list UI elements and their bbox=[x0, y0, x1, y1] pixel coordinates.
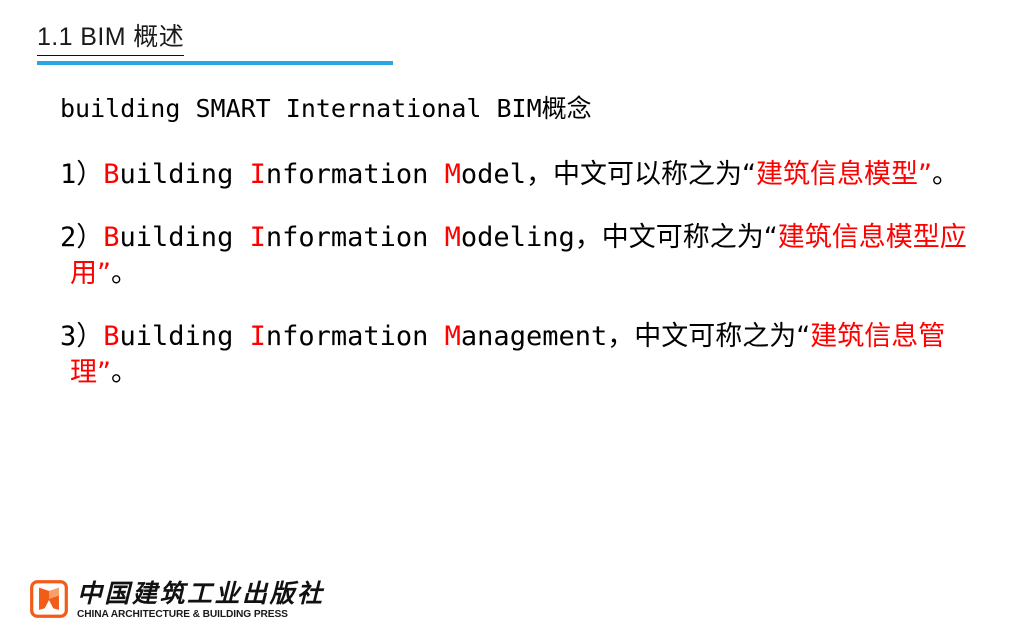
separator-comma: ， bbox=[607, 321, 634, 352]
close-quote: ” bbox=[97, 357, 111, 388]
close-quote: ” bbox=[918, 159, 932, 190]
term-fragment: B bbox=[103, 321, 119, 352]
full-stop: 。 bbox=[111, 357, 138, 388]
close-quote: ” bbox=[97, 258, 111, 289]
list-item: 1）Building Information Model，中文可以称之为“建筑信… bbox=[60, 157, 990, 193]
open-quote: “ bbox=[742, 159, 756, 190]
publisher-name-cn: 中国建筑工业出版社 bbox=[77, 581, 325, 607]
term-fragment: nformation bbox=[266, 159, 445, 190]
chinese-term: 建筑信息模型 bbox=[756, 159, 918, 190]
term-fragment: I bbox=[250, 321, 266, 352]
open-quote: “ bbox=[764, 222, 778, 253]
open-book-logo-icon bbox=[30, 580, 68, 618]
list-item: 2）Building Information Modeling，中文可称之为“建… bbox=[60, 220, 990, 292]
term-fragment: I bbox=[250, 159, 266, 190]
term-fragment: M bbox=[445, 222, 461, 253]
title-block: 1.1 BIM 概述 bbox=[37, 24, 457, 65]
term-fragment: I bbox=[250, 222, 266, 253]
slide-canvas: { "slide": { "title": "1.1 BIM 概述", "acc… bbox=[0, 0, 1024, 640]
publisher-name-en: CHINA ARCHITECTURE & BUILDING PRESS bbox=[77, 608, 317, 621]
open-quote: “ bbox=[796, 321, 810, 352]
separator-comma: ， bbox=[526, 159, 553, 190]
lead-line: building SMART International BIM概念 bbox=[60, 96, 990, 121]
separator-comma: ， bbox=[575, 222, 602, 253]
term-fragment: B bbox=[103, 222, 119, 253]
term-fragment: uilding bbox=[120, 321, 250, 352]
term-fragment: odel bbox=[461, 159, 526, 190]
term-fragment: uilding bbox=[120, 159, 250, 190]
term-fragment: M bbox=[445, 159, 461, 190]
term-fragment: odeling bbox=[461, 222, 575, 253]
list-item: 3）Building Information Management，中文可称之为… bbox=[60, 319, 990, 391]
publisher-logo: 中国建筑工业出版社 CHINA ARCHITECTURE & BUILDING … bbox=[30, 580, 325, 621]
lead-in-text: 中文可以称之为 bbox=[553, 159, 742, 190]
term-fragment: nformation bbox=[266, 321, 445, 352]
slide-body: building SMART International BIM概念 1）Bui… bbox=[60, 96, 990, 391]
full-stop: 。 bbox=[111, 258, 138, 289]
full-stop: 。 bbox=[932, 159, 959, 190]
logo-wordmarks: 中国建筑工业出版社 CHINA ARCHITECTURE & BUILDING … bbox=[77, 580, 325, 621]
page-title: 1.1 BIM 概述 bbox=[37, 24, 184, 56]
item-number: 1） bbox=[60, 159, 103, 190]
term-fragment: uilding bbox=[120, 222, 250, 253]
term-fragment: M bbox=[445, 321, 461, 352]
lead-in-text: 中文可称之为 bbox=[602, 222, 764, 253]
item-number: 2） bbox=[60, 222, 103, 253]
term-fragment: B bbox=[103, 159, 119, 190]
lead-in-text: 中文可称之为 bbox=[634, 321, 796, 352]
term-fragment: nformation bbox=[266, 222, 445, 253]
title-accent-rule bbox=[37, 61, 393, 65]
item-number: 3） bbox=[60, 321, 103, 352]
term-fragment: anagement bbox=[461, 321, 607, 352]
